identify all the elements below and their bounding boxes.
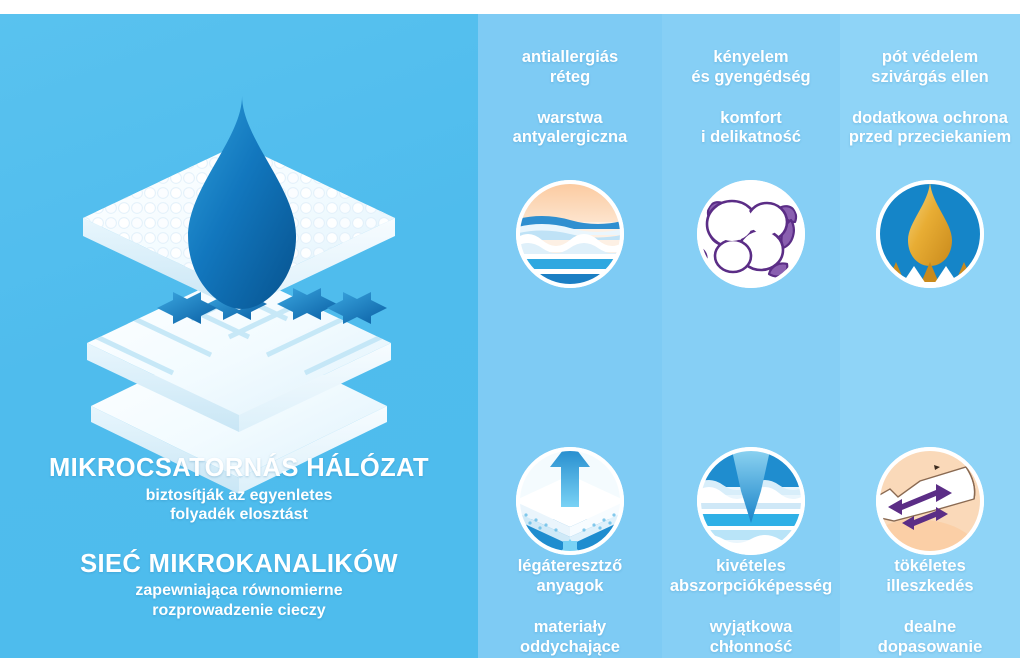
absorption-down-arrow-icon: [695, 445, 807, 557]
col1-top-caption-hu: antiallergiás réteg: [478, 48, 662, 88]
col3-bottom-pl-line1: dealne: [844, 618, 1016, 638]
left-sub-pl-line2: rozprowadzenie cieczy: [0, 601, 478, 620]
col2-bottom-caption-hu: kivételes abszorpcióképesség: [662, 557, 840, 597]
col3-bottom-pl-line2: dopasowanie: [844, 638, 1016, 658]
left-headline-hu: MIKROCSATORNÁS HÁLÓZAT: [0, 454, 478, 483]
col3-top-caption-hu: pót védelem szivárgás ellen: [840, 48, 1020, 88]
col3-top-hu-line1: pót védelem: [844, 48, 1016, 68]
col2-bottom-pl-line2: chłonność: [666, 638, 836, 658]
col3-bottom-hu-line2: illeszkedés: [844, 577, 1016, 597]
left-sub-pl-line1: zapewniająca równomierne: [0, 581, 478, 600]
col3-top-pl-line2: przed przeciekaniem: [844, 128, 1016, 148]
col1-top-hu-line2: réteg: [482, 68, 658, 88]
left-sub-hu-line2: folyadék elosztást: [0, 505, 478, 524]
col1-top-caption-pl: warstwa antyalergiczna: [478, 109, 662, 149]
col3-top-pl-line1: dodatkowa ochrona: [844, 109, 1016, 129]
col3-top-hu-line2: szivárgás ellen: [844, 68, 1016, 88]
col3-bottom-hu-line1: tökéletes: [844, 557, 1016, 577]
feature-columns: antiallergiás réteg warstwa antyalergicz…: [478, 14, 1020, 658]
col1-top-pl-line1: warstwa: [482, 109, 658, 129]
col2-bottom-hu-line2: abszorpcióképesség: [666, 577, 836, 597]
col3-top-caption-pl: dodatkowa ochrona przed przeciekaniem: [840, 109, 1020, 149]
feature-column-antiallergic: antiallergiás réteg warstwa antyalergicz…: [478, 14, 662, 658]
col2-bottom-pl-line1: wyjątkowa: [666, 618, 836, 638]
feature-column-leak-protection: pót védelem szivárgás ellen dodatkowa oc…: [840, 14, 1020, 658]
content-band: MIKROCSATORNÁS HÁLÓZAT biztosítják az eg…: [0, 14, 1020, 658]
col1-bottom-caption-hu: légáteresztző anyagok: [478, 557, 662, 597]
col1-bottom-caption-pl: materiały oddychające: [478, 618, 662, 658]
col1-top-hu-line1: antiallergiás: [482, 48, 658, 68]
infographic-root: MIKROCSATORNÁS HÁLÓZAT biztosítják az eg…: [0, 0, 1020, 672]
col1-bottom-pl-line2: oddychające: [482, 638, 658, 658]
col2-top-pl-line1: komfort: [666, 109, 836, 129]
col1-top-pl-line2: antyalergiczna: [482, 128, 658, 148]
microchannel-layers-illustration: [39, 66, 439, 466]
feature-column-comfort: kényelem és gyengédség komfort i delikat…: [662, 14, 840, 658]
gold-droplet-barrier-icon: [874, 178, 986, 290]
left-panel: MIKROCSATORNÁS HÁLÓZAT biztosítják az eg…: [0, 14, 478, 658]
col2-top-hu-line1: kényelem: [666, 48, 836, 68]
col2-top-pl-line2: i delikatność: [666, 128, 836, 148]
col2-top-hu-line2: és gyengédség: [666, 68, 836, 88]
left-headline-pl: SIEĆ MIKROKANALIKÓW: [0, 550, 478, 579]
body-fit-stretch-arrows-icon: [874, 445, 986, 557]
col3-bottom-caption-hu: tökéletes illeszkedés: [840, 557, 1020, 597]
left-panel-text: MIKROCSATORNÁS HÁLÓZAT biztosítják az eg…: [0, 454, 478, 620]
left-sub-hu-line1: biztosítják az egyenletes: [0, 486, 478, 505]
col1-bottom-pl-line1: materiały: [482, 618, 658, 638]
col2-bottom-hu-line1: kivételes: [666, 557, 836, 577]
col2-top-caption-pl: komfort i delikatność: [662, 109, 840, 149]
col1-bottom-hu-line1: légáteresztző: [482, 557, 658, 577]
left-text-gap: [0, 524, 478, 550]
skin-fabric-layers-icon: [514, 178, 626, 290]
col2-bottom-caption-pl: wyjątkowa chłonność: [662, 618, 840, 658]
breathable-layers-up-arrow-icon: [514, 445, 626, 557]
col2-top-caption-hu: kényelem és gyengédség: [662, 48, 840, 88]
cotton-boll-icon: [695, 178, 807, 290]
col1-bottom-hu-line2: anyagok: [482, 577, 658, 597]
col3-bottom-caption-pl: dealne dopasowanie: [840, 618, 1020, 658]
